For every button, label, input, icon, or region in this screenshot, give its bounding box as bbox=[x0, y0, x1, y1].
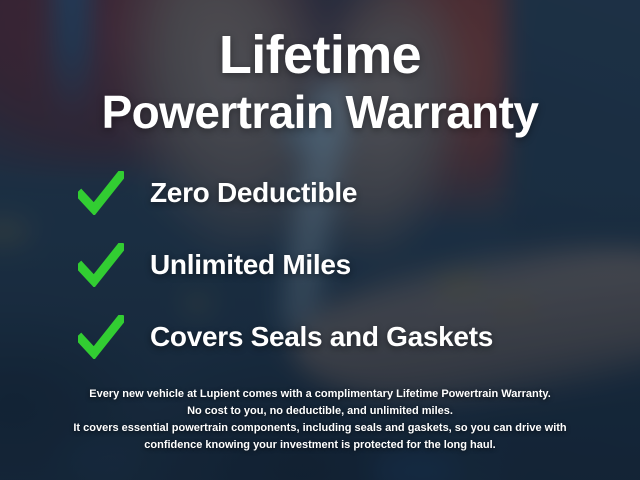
banner-content: Lifetime Powertrain Warranty Zero Deduct… bbox=[0, 0, 640, 480]
lifetime-powertrain-warranty-banner: Lifetime Powertrain Warranty Zero Deduct… bbox=[0, 0, 640, 480]
benefit-label: Covers Seals and Gaskets bbox=[150, 321, 493, 353]
check-icon bbox=[78, 243, 124, 287]
benefit-label: Unlimited Miles bbox=[150, 249, 351, 281]
headline-line-2: Powertrain Warranty bbox=[0, 89, 640, 135]
benefit-item-zero-deductible: Zero Deductible bbox=[78, 171, 640, 215]
benefit-label: Zero Deductible bbox=[150, 177, 357, 209]
check-icon bbox=[78, 315, 124, 359]
benefit-list: Zero Deductible Unlimited Miles Covers S… bbox=[0, 171, 640, 359]
footnote-line-4: confidence knowing your investment is pr… bbox=[26, 437, 614, 454]
footnote-description: Every new vehicle at Lupient comes with … bbox=[0, 386, 640, 454]
check-icon bbox=[78, 171, 124, 215]
footnote-line-1: Every new vehicle at Lupient comes with … bbox=[26, 386, 614, 403]
benefit-item-unlimited-miles: Unlimited Miles bbox=[78, 243, 640, 287]
headline-line-1: Lifetime bbox=[0, 28, 640, 82]
benefit-item-covers-seals-and-gaskets: Covers Seals and Gaskets bbox=[78, 315, 640, 359]
footnote-line-3: It covers essential powertrain component… bbox=[26, 420, 614, 437]
banner-headline: Lifetime Powertrain Warranty bbox=[0, 28, 640, 135]
footnote-line-2: No cost to you, no deductible, and unlim… bbox=[26, 403, 614, 420]
